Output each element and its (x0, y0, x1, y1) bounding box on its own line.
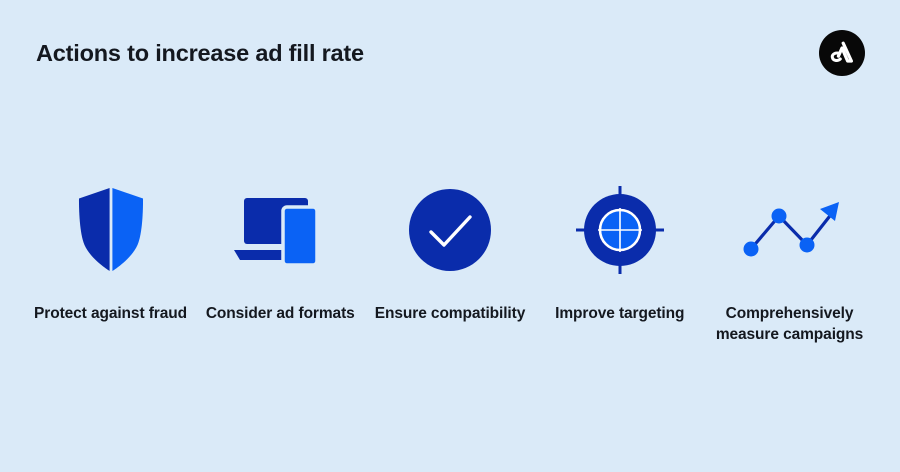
item-protect-against-fraud: Protect against fraud (27, 180, 194, 325)
items-row: Protect against fraud Consider ad format… (27, 180, 873, 345)
page-title: Actions to increase ad fill rate (36, 40, 364, 67)
crosshair-target-icon-wrapper (565, 180, 675, 280)
line-chart-arrow-icon-wrapper (735, 180, 845, 280)
line-chart-arrow-icon (735, 194, 845, 266)
item-comprehensively-measure-campaigns: Comprehensively measure campaigns (706, 180, 873, 345)
devices-icon (230, 190, 330, 270)
item-label: Comprehensively measure campaigns (710, 304, 870, 345)
item-label: Ensure compatibility (375, 304, 525, 325)
check-circle-icon-wrapper (395, 180, 505, 280)
brand-logo (819, 30, 865, 76)
item-ensure-compatibility: Ensure compatibility (367, 180, 534, 325)
item-consider-ad-formats: Consider ad formats (197, 180, 364, 325)
check-circle-icon (408, 188, 492, 272)
crosshair-target-icon (572, 182, 668, 278)
item-label: Protect against fraud (34, 304, 187, 325)
shield-icon (74, 187, 148, 273)
item-label: Improve targeting (555, 304, 684, 325)
shield-icon-wrapper (56, 180, 166, 280)
devices-icon-wrapper (225, 180, 335, 280)
item-improve-targeting: Improve targeting (536, 180, 703, 325)
infographic-canvas: Actions to increase ad fill rate Protect… (0, 0, 900, 472)
brand-logo-mark-icon (827, 38, 857, 68)
item-label: Consider ad formats (206, 304, 355, 325)
